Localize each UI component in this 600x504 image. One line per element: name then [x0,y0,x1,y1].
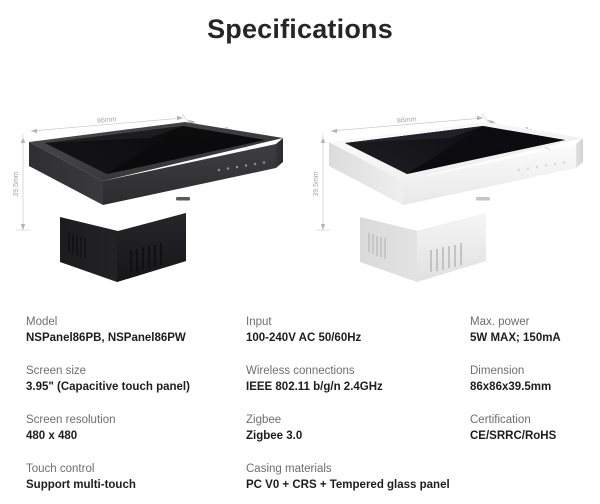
spec-row-wireless-connections: Wireless connections IEEE 802.11 b/g/n 2… [246,364,466,396]
product-illustration-white: 86mm 86mm 39.5mm [300,100,600,295]
spec-value: PC V0 + CRS + Tempered glass panel [246,477,466,494]
spec-row-zigbee: Zigbee Zigbee 3.0 [246,413,466,445]
spec-label: Zigbee [246,413,466,428]
spec-row-casing-materials: Casing materials PC V0 + CRS + Tempered … [246,462,466,494]
product-figure-black: 86mm 86mm 39.5mm [0,100,300,295]
spec-value: 100-240V AC 50/60Hz [246,330,466,347]
spec-row-model: Model NSPanel86PB, NSPanel86PW [26,315,241,347]
spec-value: NSPanel86PB, NSPanel86PW [26,330,241,347]
spec-value: Support multi-touch [26,477,241,494]
product-figure-white: 86mm 86mm 39.5mm [300,100,600,295]
spec-value: 480 x 480 [26,428,241,445]
spec-label: Touch control [26,462,241,477]
page-title: Specifications [0,14,600,45]
spec-label: Max. power [470,315,595,330]
spec-label: Screen size [26,364,241,379]
spec-value: 5W MAX; 150mA [470,330,595,347]
spec-row-max-power: Max. power 5W MAX; 150mA [470,315,595,347]
dimension-label-height-white: 39.5mm [313,171,320,196]
dimension-label-width-black: 86mm [97,116,117,125]
connector-notch-white [476,197,490,201]
specifications-grid: Model NSPanel86PB, NSPanel86PW Screen si… [0,315,600,500]
spec-label: Model [26,315,241,330]
spec-label: Input [246,315,466,330]
mounting-box-white [360,213,486,282]
spec-column-3: Max. power 5W MAX; 150mA Dimension 86x86… [470,315,595,462]
specifications-page: Specifications [0,0,600,504]
spec-value: 86x86x39.5mm [470,379,595,396]
spec-label: Screen resolution [26,413,241,428]
spec-label: Casing materials [246,462,466,477]
spec-row-input: Input 100-240V AC 50/60Hz [246,315,466,347]
dimension-label-width-white: 86mm [397,116,417,125]
spec-row-screen-size: Screen size 3.95" (Capacitive touch pane… [26,364,241,396]
spec-row-screen-resolution: Screen resolution 480 x 480 [26,413,241,445]
spec-value: CE/SRRC/RoHS [470,428,595,445]
spec-label: Dimension [470,364,595,379]
spec-value: IEEE 802.11 b/g/n 2.4GHz [246,379,466,396]
spec-column-1: Model NSPanel86PB, NSPanel86PW Screen si… [26,315,241,504]
dimension-label-height-black: 39.5mm [13,171,20,196]
mounting-box-black [60,213,186,282]
spec-label: Wireless connections [246,364,466,379]
spec-column-2: Input 100-240V AC 50/60Hz Wireless conne… [246,315,466,504]
spec-row-certification: Certification CE/SRRC/RoHS [470,413,595,445]
product-illustration-black: 86mm 86mm 39.5mm [0,100,300,295]
spec-value: Zigbee 3.0 [246,428,466,445]
spec-row-touch-control: Touch control Support multi-touch [26,462,241,494]
spec-row-dimension: Dimension 86x86x39.5mm [470,364,595,396]
spec-value: 3.95" (Capacitive touch panel) [26,379,241,396]
spec-label: Certification [470,413,595,428]
connector-notch-black [176,197,190,201]
